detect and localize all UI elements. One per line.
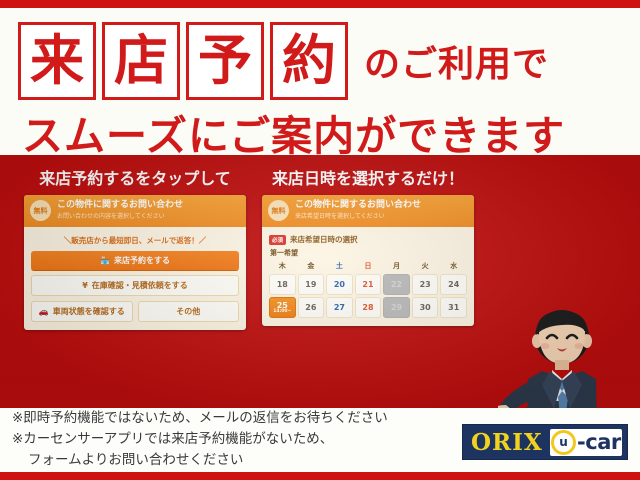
calendar-day[interactable]: 19 — [298, 274, 325, 295]
vehicle-condition-button[interactable]: 🚗 車両状態を確認する — [31, 301, 133, 322]
other-button[interactable]: その他 — [138, 301, 240, 322]
calendar-day[interactable]: 24 — [440, 274, 467, 295]
calendar-day[interactable]: 23 — [412, 274, 439, 295]
headline-line-2: スムーズにご案内ができます — [22, 102, 622, 162]
headline-row-1: 来 店 予 約 のご利用で — [18, 22, 549, 100]
feature-column-right: 来店日時を選択するだけ！ 無料 この物件に関するお問い合わせ 来店希望日時を選択… — [262, 165, 474, 326]
yen-icon: ¥ — [82, 282, 88, 290]
inquiry-card-subtitle: お問い合わせの内容を選択してください — [57, 213, 240, 221]
calendar-day[interactable]: 31 — [440, 297, 467, 318]
dow-tue: 火 — [412, 261, 439, 272]
top-rule — [0, 0, 640, 8]
left-column-title: 来店予約するをタップして — [24, 165, 246, 189]
headline-kanji-box-3: 予 — [186, 22, 264, 100]
headline-kanji-box-2: 店 — [102, 22, 180, 100]
feature-panel: 来店予約するをタップして 無料 この物件に関するお問い合わせ お問い合わせの内容… — [0, 155, 640, 408]
inquiry-form-card: 無料 この物件に関するお問い合わせ お問い合わせの内容を選択してください ＼販売… — [24, 195, 246, 330]
free-badge-icon-2: 無料 — [268, 200, 289, 221]
calendar-day[interactable]: 26 — [298, 297, 325, 318]
headline-section: 来 店 予 約 のご利用で スムーズにご案内ができます — [0, 8, 640, 155]
dow-wed: 水 — [440, 261, 467, 272]
secondary-button-row: 🚗 車両状態を確認する その他 — [31, 301, 239, 322]
free-badge-icon: 無料 — [30, 200, 51, 221]
preference-label: 第一希望 — [270, 248, 467, 258]
required-badge: 必須 — [269, 235, 286, 245]
banner-root: 来 店 予 約 のご利用で スムーズにご案内ができます 来店予約するをタップして… — [0, 0, 640, 480]
dow-sun: 日 — [355, 261, 382, 272]
dow-fri: 金 — [298, 261, 325, 272]
businessman-illustration — [498, 305, 626, 408]
calendar-card-subtitle: 来店希望日時を選択してください — [295, 213, 468, 221]
calendar-day[interactable]: 18 — [269, 274, 296, 295]
headline-kanji-box-4: 約 — [270, 22, 348, 100]
calendar-day[interactable]: 28 — [355, 297, 382, 318]
dow-sat: 土 — [326, 261, 353, 272]
calendar-week-1: 18 19 20 21 22 23 24 — [269, 274, 467, 295]
calendar-day-selected[interactable]: 25 14:00~ — [269, 297, 296, 318]
calendar-card-header: 無料 この物件に関するお問い合わせ 来店希望日時を選択してください — [262, 195, 474, 227]
orix-ucar-logo: ORIX u -car — [462, 424, 628, 460]
calendar-dow-row: 木 金 土 日 月 火 水 — [269, 261, 467, 272]
calendar-day[interactable]: 21 — [355, 274, 382, 295]
inquiry-card-title: この物件に関するお問い合わせ — [57, 200, 240, 211]
bottom-rule — [0, 472, 640, 480]
calendar-day[interactable]: 27 — [326, 297, 353, 318]
car-icon: 🚗 — [39, 308, 49, 316]
stock-quote-button[interactable]: ¥ 在庫確認・見積依頼をする — [31, 275, 239, 296]
orix-wordmark: ORIX — [471, 429, 543, 456]
right-column-title: 来店日時を選択するだけ！ — [262, 165, 474, 189]
calendar-week-2: 25 14:00~ 26 27 28 29 30 31 — [269, 297, 467, 318]
calendar-day[interactable]: 20 — [326, 274, 353, 295]
calendar-section-label: 必須 来店希望日時の選択 — [269, 234, 467, 245]
store-icon: 🏪 — [100, 257, 110, 265]
calendar-day-disabled: 22 — [383, 274, 410, 295]
headline-kanji-box-1: 来 — [18, 22, 96, 100]
dow-thu: 木 — [269, 261, 296, 272]
feature-column-left: 来店予約するをタップして 無料 この物件に関するお問い合わせ お問い合わせの内容… — [24, 165, 246, 330]
dow-mon: 月 — [383, 261, 410, 272]
calendar-day-disabled: 29 — [383, 297, 410, 318]
ucar-badge: u -car — [550, 429, 622, 456]
other-button-label: その他 — [176, 306, 200, 317]
inquiry-card-body: ＼販売店から最短即日、メールで返答！／ 🏪 来店予約をする ¥ 在庫確認・見積依… — [24, 227, 246, 330]
reserve-visit-button-label: 来店予約をする — [114, 255, 170, 266]
calendar-card-title: この物件に関するお問い合わせ — [295, 200, 468, 211]
calendar-day[interactable]: 30 — [412, 297, 439, 318]
ucar-u-icon: u — [551, 430, 576, 455]
calendar-card-body: 必須 来店希望日時の選択 第一希望 木 金 土 日 月 火 水 18 — [262, 227, 474, 326]
reserve-visit-button[interactable]: 🏪 来店予約をする — [31, 251, 239, 270]
inquiry-promo-text: ＼販売店から最短即日、メールで返答！／ — [31, 235, 239, 246]
stock-quote-button-label: 在庫確認・見積依頼をする — [92, 280, 188, 291]
calendar-day-selected-time: 14:00~ — [273, 310, 291, 315]
vehicle-condition-button-label: 車両状態を確認する — [53, 306, 125, 317]
calendar-section-label-text: 来店希望日時の選択 — [290, 234, 358, 245]
headline-tail-text: のご利用で — [364, 35, 549, 87]
inquiry-card-header: 無料 この物件に関するお問い合わせ お問い合わせの内容を選択してください — [24, 195, 246, 227]
calendar-card: 無料 この物件に関するお問い合わせ 来店希望日時を選択してください 必須 来店希… — [262, 195, 474, 326]
ucar-wordmark: -car — [577, 430, 621, 454]
